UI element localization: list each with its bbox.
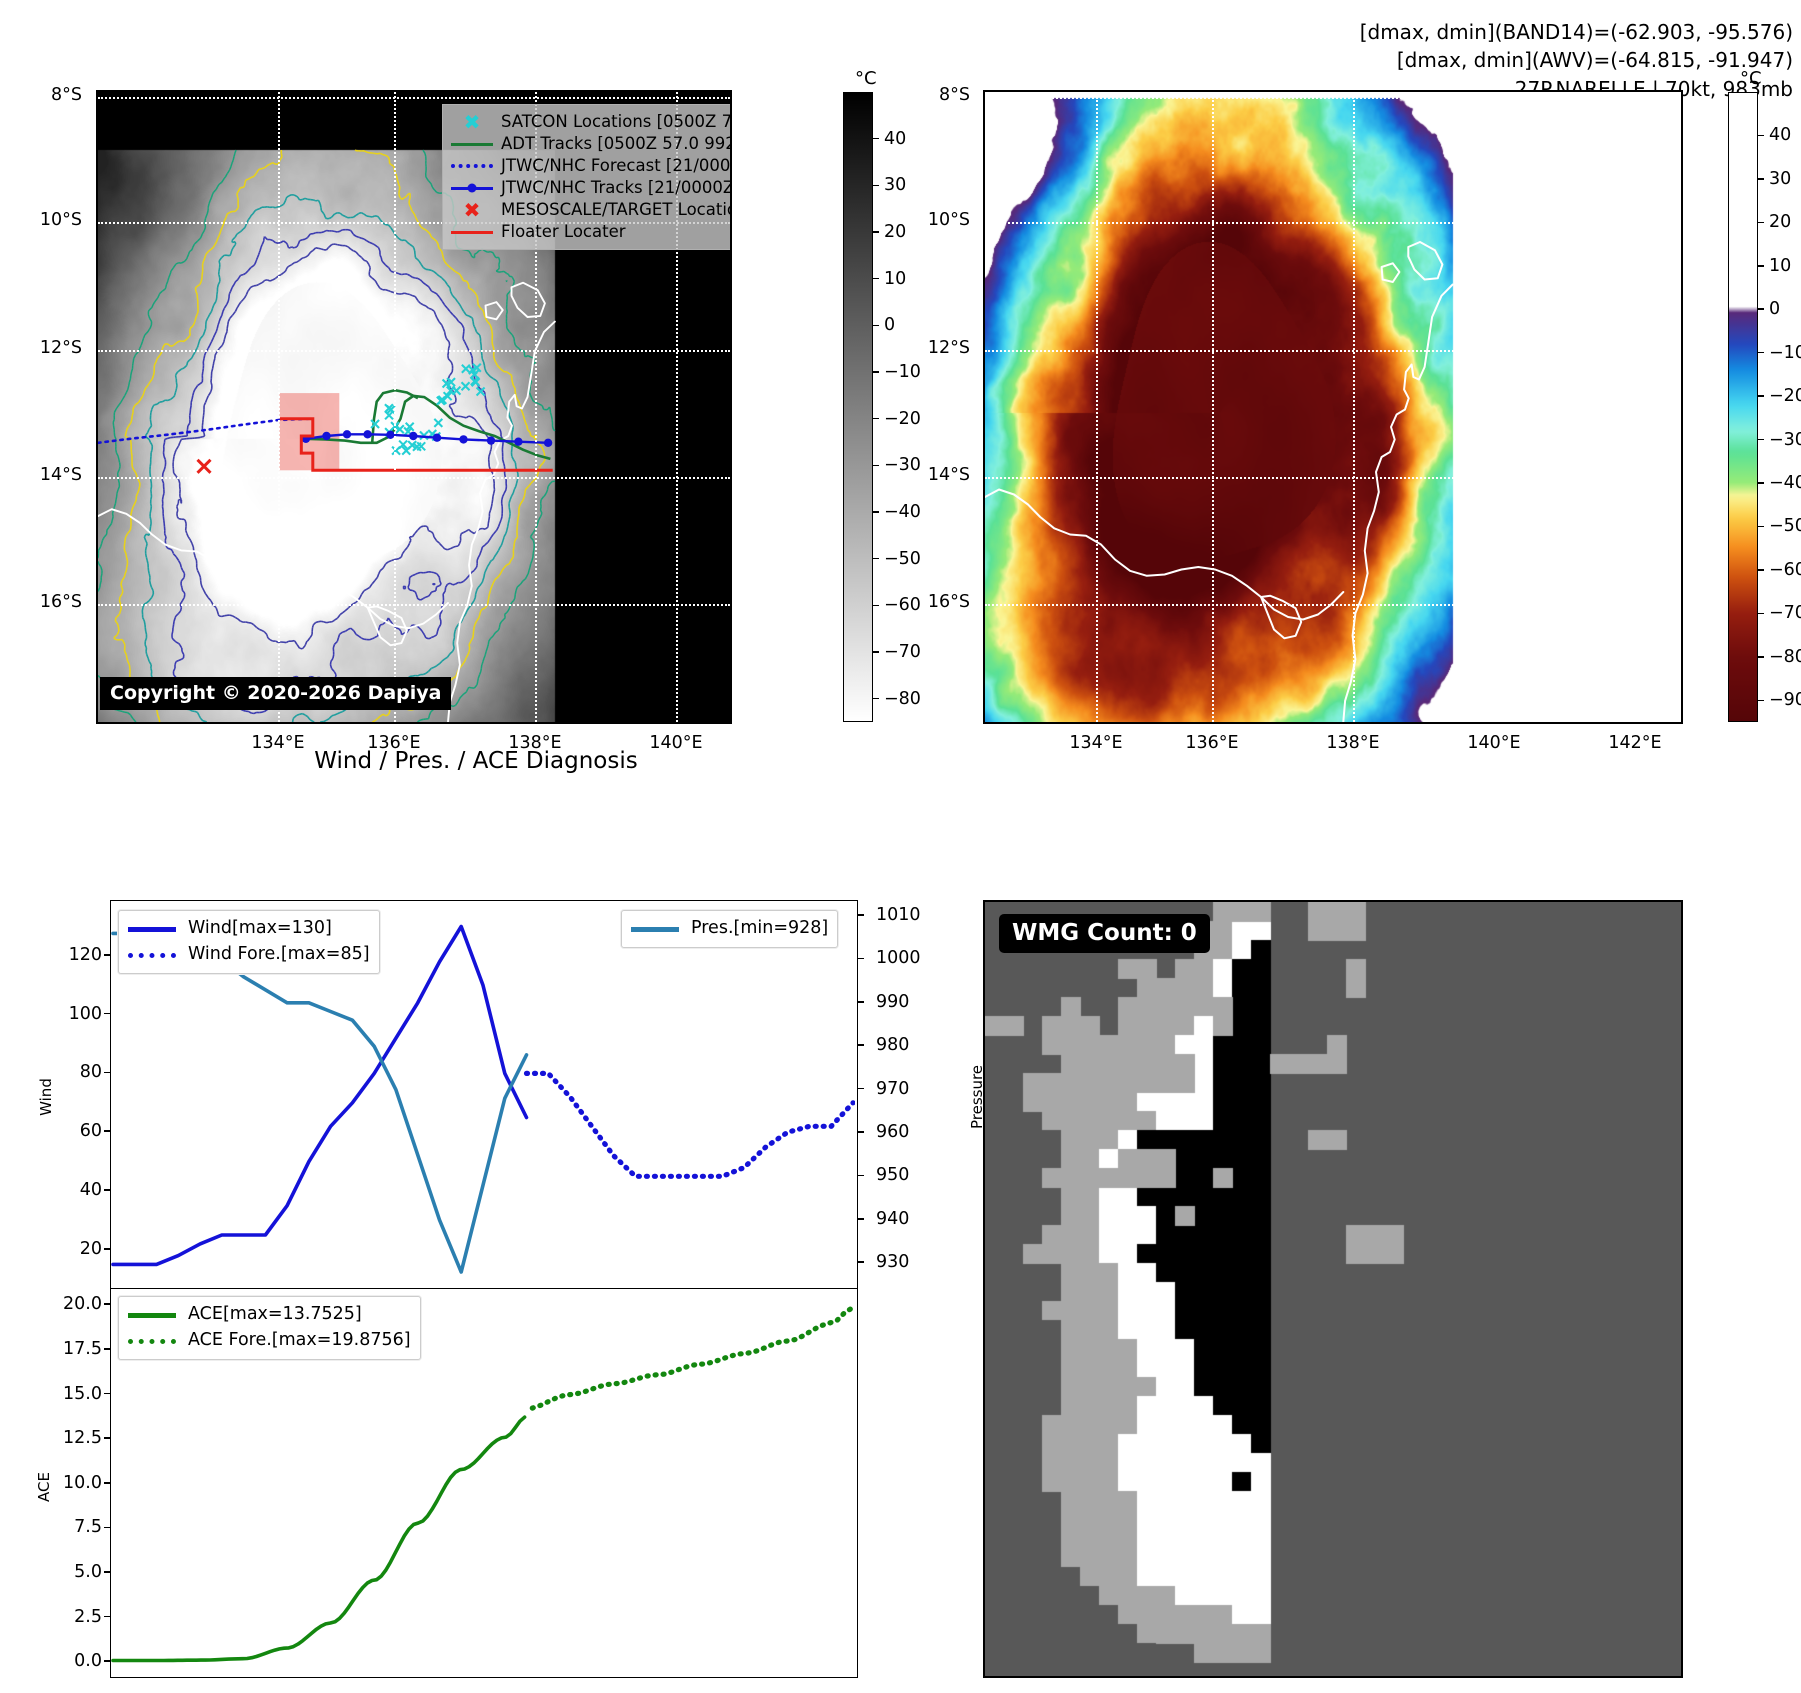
map2-ytick-12s: 12°S: [908, 338, 970, 358]
awv-colorbar-tick: −50: [1769, 516, 1801, 536]
legend-label-wind-forecast: Wind Fore.[max=85]: [180, 946, 370, 964]
ace-ytickmark: [104, 1482, 110, 1484]
ir-colorbar-tick: −80: [884, 689, 921, 709]
pressure-ytickmark: [858, 1218, 864, 1220]
dmax-dmin-awv: [dmax, dmin](AWV)=(-64.815, -91.947): [1360, 46, 1793, 74]
ace-ytickmark: [104, 1437, 110, 1439]
ace-ytick: 0.0: [30, 1651, 102, 1671]
map2-ytick-8s: 8°S: [908, 85, 970, 105]
gridline-lon-134: [1096, 92, 1098, 722]
ir-colorbar-tickmark: [873, 651, 879, 653]
ir-colorbar-tickmark: [873, 465, 879, 467]
ir-colorbar-tick: −40: [884, 502, 921, 522]
gridline-lat-16: [985, 604, 1681, 606]
awv-colorbar-tickmark: [1758, 569, 1764, 571]
legend-label-jtwc-tracks: JTWC/NHC Tracks [21/0000Z]: [495, 180, 730, 197]
awv-colorbar-tickmark: [1758, 308, 1764, 310]
ir-colorbar-tick: −70: [884, 642, 921, 662]
wind-ytickmark: [104, 1130, 110, 1132]
legend-item-pressure[interactable]: Pres.[min=928]: [631, 916, 828, 942]
ace-ytick: 5.0: [30, 1562, 102, 1582]
awv-colorbar-tick: 20: [1769, 212, 1791, 232]
ir-colorbar-tick: 30: [884, 175, 906, 195]
pressure-ytickmark: [858, 1001, 864, 1003]
wind-ytick: 20: [40, 1239, 102, 1259]
ir-colorbar-tickmark: [873, 418, 879, 420]
ir-colorbar-tick: 40: [884, 129, 906, 149]
gridline-lon-140: [1494, 92, 1496, 722]
pressure-ytick: 990: [876, 992, 909, 1012]
ir-colorbar-tick: −10: [884, 362, 921, 382]
map1-ytick-16s: 16°S: [20, 592, 82, 612]
dotted-line-icon: [449, 164, 495, 168]
solid-line-icon: [128, 1313, 180, 1318]
ir-colorbar-tickmark: [873, 325, 879, 327]
ir-colorbar-tick: −20: [884, 409, 921, 429]
ir-colorbar-tickmark: [873, 698, 879, 700]
gridline-lat-10: [985, 222, 1681, 224]
map2-xtick-142e: 142°E: [1608, 733, 1661, 753]
pressure-ytickmark: [858, 958, 864, 960]
map2-ytick-16s: 16°S: [908, 592, 970, 612]
awv-colorbar-tickmark: [1758, 352, 1764, 354]
ir-satellite-map[interactable]: ✖ SATCON Locations [0500Z 70 976] ADT Tr…: [96, 90, 732, 724]
legend-item-jtwc-forecast[interactable]: JTWC/NHC Forecast [21/0000Z]: [449, 155, 730, 177]
pressure-ytick: 1010: [876, 905, 921, 925]
awv-colorbar-tickmark: [1758, 395, 1764, 397]
pressure-ytick: 970: [876, 1079, 909, 1099]
pressure-ytickmark: [858, 914, 864, 916]
x-marker-icon: ✖: [449, 112, 495, 132]
ir-colorbar-tickmark: [873, 138, 879, 140]
legend-item-jtwc-tracks[interactable]: JTWC/NHC Tracks [21/0000Z]: [449, 177, 730, 199]
ir-colorbar: [843, 92, 873, 722]
awv-colorbar-tickmark: [1758, 613, 1764, 615]
map2-xtick-134e: 134°E: [1069, 733, 1122, 753]
wmg-map-panel[interactable]: WMG Count: 0: [983, 900, 1683, 1678]
gridline-lat-16: [98, 604, 730, 606]
ace-chart-legend: ACE[max=13.7525] ACE Fore.[max=19.8756]: [118, 1296, 421, 1360]
ir-colorbar-tickmark: [873, 185, 879, 187]
legend-item-adt-tracks[interactable]: ADT Tracks [0500Z 57.0 992.0]: [449, 133, 730, 155]
legend-item-wind-forecast[interactable]: Wind Fore.[max=85]: [128, 942, 370, 968]
wind-ytickmark: [104, 1072, 110, 1074]
copyright-notice: Copyright © 2020-2026 Dapiya: [100, 677, 451, 710]
ir-colorbar-tick: 10: [884, 269, 906, 289]
awv-colorbar-tickmark: [1758, 439, 1764, 441]
ir-colorbar-tick: −50: [884, 549, 921, 569]
map2-xtick-136e: 136°E: [1185, 733, 1238, 753]
legend-item-mesoscale-target[interactable]: ✖ MESOSCALE/TARGET Location: [449, 199, 730, 221]
awv-colorbar-tick: −40: [1769, 473, 1801, 493]
legend-item-ace[interactable]: ACE[max=13.7525]: [128, 1302, 411, 1328]
map2-xtick-140e: 140°E: [1467, 733, 1520, 753]
awv-colorbar-unit: °C: [1740, 68, 1762, 89]
awv-satellite-map[interactable]: [983, 90, 1683, 724]
ace-ytickmark: [104, 1660, 110, 1662]
solid-line-icon: [631, 927, 683, 932]
pressure-ytick: 980: [876, 1035, 909, 1055]
awv-colorbar-tick: 30: [1769, 169, 1791, 189]
awv-colorbar-tick: −30: [1769, 430, 1801, 450]
awv-colorbar-tickmark: [1758, 178, 1764, 180]
wind-ytickmark: [104, 1013, 110, 1015]
legend-label-adt-tracks: ADT Tracks [0500Z 57.0 992.0]: [495, 136, 730, 153]
x-marker-icon: ✖: [449, 200, 495, 220]
ir-colorbar-tickmark: [873, 371, 879, 373]
wind-ytickmark: [104, 954, 110, 956]
awv-coastline-overlay: [985, 92, 1681, 722]
solid-line-icon: [449, 231, 495, 234]
legend-label-floater-locater: Floater Locater: [495, 224, 626, 241]
ace-ytickmark: [104, 1571, 110, 1573]
pressure-ytickmark: [858, 1044, 864, 1046]
gridline-lat-14: [985, 477, 1681, 479]
gridline-lon-134: [278, 92, 280, 722]
awv-colorbar-tick: −20: [1769, 386, 1801, 406]
ace-ytickmark: [104, 1348, 110, 1350]
awv-colorbar-tickmark: [1758, 135, 1764, 137]
gridline-lat-8: [985, 97, 1681, 99]
awv-colorbar-tick: −90: [1769, 690, 1801, 710]
wind-ytick: 40: [40, 1180, 102, 1200]
ir-colorbar-unit: °C: [855, 68, 877, 89]
awv-colorbar-tick: −60: [1769, 560, 1801, 580]
wmg-imagery-canvas: [985, 902, 1681, 1676]
gridline-lat-12: [985, 350, 1681, 352]
ir-colorbar-tickmark: [873, 278, 879, 280]
solid-line-icon: [449, 143, 495, 146]
map1-ytick-12s: 12°S: [20, 338, 82, 358]
pressure-ytickmark: [858, 1175, 864, 1177]
awv-colorbar-tick: −10: [1769, 343, 1801, 363]
gridline-lat-14: [98, 477, 730, 479]
awv-colorbar-tickmark: [1758, 656, 1764, 658]
ace-ytick: 2.5: [30, 1607, 102, 1627]
gridline-lon-138: [1353, 92, 1355, 722]
awv-colorbar-tickmark: [1758, 482, 1764, 484]
wind-chart-legend: Wind[max=130] Wind Fore.[max=85]: [118, 910, 380, 974]
map1-ytick-8s: 8°S: [20, 85, 82, 105]
legend-label-ace: ACE[max=13.7525]: [180, 1306, 362, 1324]
line-with-marker-icon: [449, 187, 495, 190]
ir-colorbar-tickmark: [873, 605, 879, 607]
ace-ytickmark: [104, 1616, 110, 1618]
pressure-ytick: 950: [876, 1165, 909, 1185]
pressure-chart-legend: Pres.[min=928]: [621, 910, 838, 948]
gridline-lon-136: [1212, 92, 1214, 722]
awv-colorbar-tickmark: [1758, 265, 1764, 267]
legend-label-wind: Wind[max=130]: [180, 920, 332, 938]
legend-label-mesoscale-target: MESOSCALE/TARGET Location: [495, 202, 730, 219]
wind-ytick: 100: [40, 1004, 102, 1024]
pressure-ytickmark: [858, 1261, 864, 1263]
wind-ytickmark: [104, 1189, 110, 1191]
awv-colorbar-tick: −80: [1769, 647, 1801, 667]
gridline-lat-12: [98, 350, 730, 352]
map2-ytick-14s: 14°S: [908, 465, 970, 485]
ace-ytickmark: [104, 1527, 110, 1529]
awv-colorbar-tickmark: [1758, 526, 1764, 528]
awv-colorbar-tick: 40: [1769, 125, 1791, 145]
awv-colorbar-tick: 0: [1769, 299, 1780, 319]
legend-label-satcon: SATCON Locations [0500Z 70 976]: [495, 114, 730, 131]
legend-item-floater-locater[interactable]: Floater Locater: [449, 221, 730, 243]
dmax-dmin-band14: [dmax, dmin](BAND14)=(-62.903, -95.576): [1360, 18, 1793, 46]
ace-ytick: 17.5: [30, 1339, 102, 1359]
pressure-ytickmark: [858, 1088, 864, 1090]
dotted-line-icon: [128, 1339, 180, 1344]
solid-line-icon: [128, 927, 180, 932]
wind-ytickmark: [104, 1248, 110, 1250]
legend-label-ace-forecast: ACE Fore.[max=19.8756]: [180, 1332, 411, 1350]
map-legend: ✖ SATCON Locations [0500Z 70 976] ADT Tr…: [442, 104, 730, 250]
legend-label-pressure: Pres.[min=928]: [683, 920, 828, 938]
pressure-ytick: 930: [876, 1252, 909, 1272]
awv-colorbar-tickmark: [1758, 700, 1764, 702]
awv-colorbar-tick: 10: [1769, 256, 1791, 276]
legend-item-ace-forecast[interactable]: ACE Fore.[max=19.8756]: [128, 1328, 411, 1354]
map1-ytick-10s: 10°S: [20, 210, 82, 230]
awv-colorbar-tickmark: [1758, 222, 1764, 224]
ir-colorbar-tick: 0: [884, 315, 895, 335]
map2-ytick-10s: 10°S: [908, 210, 970, 230]
legend-item-satcon[interactable]: ✖ SATCON Locations [0500Z 70 976]: [449, 111, 730, 133]
legend-label-jtwc-forecast: JTWC/NHC Forecast [21/0000Z]: [495, 158, 730, 175]
ir-colorbar-tickmark: [873, 558, 879, 560]
pressure-ytick: 1000: [876, 948, 921, 968]
ir-colorbar-tick: 20: [884, 222, 906, 242]
pressure-ytick: 960: [876, 1122, 909, 1142]
legend-item-wind[interactable]: Wind[max=130]: [128, 916, 370, 942]
ace-ytick: 15.0: [30, 1384, 102, 1404]
ace-axis-label: ACE: [35, 1437, 53, 1537]
wind-axis-label: Wind: [37, 1047, 55, 1147]
ace-ytickmark: [104, 1393, 110, 1395]
pressure-ytick: 940: [876, 1209, 909, 1229]
gridline-lat-8: [98, 97, 730, 99]
diagnosis-title: Wind / Pres. / ACE Diagnosis: [96, 748, 856, 774]
dotted-line-icon: [128, 953, 180, 958]
ace-ytick: 20.0: [30, 1294, 102, 1314]
gridline-lon-136: [394, 92, 396, 722]
ir-colorbar-tickmark: [873, 231, 879, 233]
wind-ytick: 120: [40, 945, 102, 965]
ace-ytickmark: [104, 1303, 110, 1305]
map2-xtick-138e: 138°E: [1326, 733, 1379, 753]
wmg-count-badge: WMG Count: 0: [999, 914, 1210, 953]
awv-colorbar: [1728, 92, 1758, 722]
awv-colorbar-tick: −70: [1769, 603, 1801, 623]
ir-colorbar-tickmark: [873, 511, 879, 513]
pressure-ytickmark: [858, 1131, 864, 1133]
map1-ytick-14s: 14°S: [20, 465, 82, 485]
